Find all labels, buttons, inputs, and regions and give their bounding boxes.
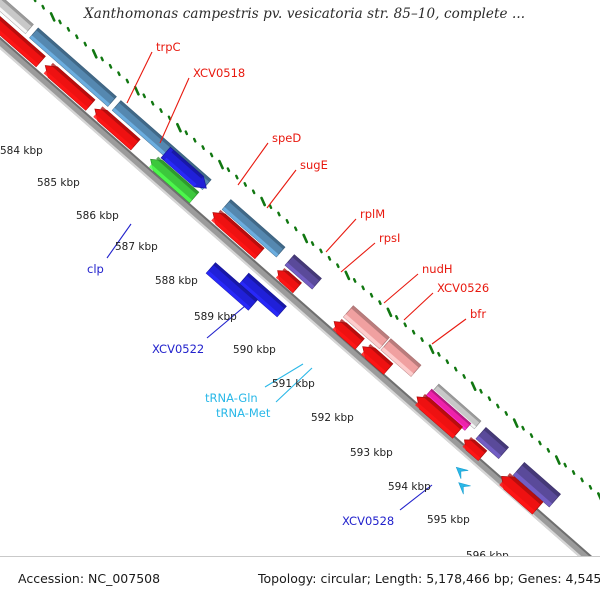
ruler-major-tick [472, 383, 475, 390]
ruler-major-tick [514, 420, 517, 427]
label-leader-line [267, 170, 296, 208]
ruler-minor-tick [320, 250, 321, 252]
ruler-minor-tick [590, 486, 591, 488]
gene-label[interactable]: XCV0528 [342, 514, 394, 528]
gene-label[interactable]: bfr [470, 307, 486, 321]
ruler-minor-tick [203, 146, 204, 148]
gene-label[interactable]: rplM [360, 207, 385, 221]
ruler-minor-tick [43, 6, 44, 8]
ruler-tick-label: 586 kbp [76, 210, 119, 222]
ruler-minor-tick [169, 117, 170, 119]
ruler-major-tick [346, 272, 349, 279]
ruler-minor-tick [59, 21, 60, 23]
trna-arrow-glyph[interactable] [459, 483, 471, 494]
gene-label[interactable]: XCV0522 [152, 342, 204, 356]
ruler-major-tick [135, 87, 138, 94]
ruler-tick-label: 584 kbp [0, 145, 43, 157]
ruler-minor-tick [228, 168, 229, 170]
ruler-minor-tick [211, 154, 212, 156]
accession-text: Accession: NC_007508 [18, 571, 160, 586]
ruler-minor-tick [438, 353, 439, 355]
ruler-minor-tick [396, 316, 397, 318]
label-leader-line [432, 319, 466, 344]
ruler-tick-label: 594 kbp [388, 481, 431, 493]
gene-label[interactable]: tRNA-Met [216, 406, 270, 420]
label-leader-line [404, 293, 433, 320]
trna-arrow-icon[interactable] [459, 483, 471, 494]
ruler-minor-tick [194, 139, 195, 141]
ruler-minor-tick [497, 405, 498, 407]
ruler-major-tick [388, 309, 391, 316]
status-bar: Accession: NC_007508 Topology: circular;… [0, 556, 600, 601]
ruler-minor-tick [489, 397, 490, 399]
ruler-minor-tick [422, 338, 423, 340]
ruler-minor-tick [34, 0, 35, 1]
ruler-minor-tick [118, 72, 119, 74]
ruler-minor-tick [548, 449, 549, 451]
label-leader-line [127, 52, 152, 103]
ruler-minor-tick [85, 43, 86, 45]
ruler-tick-label: 588 kbp [155, 275, 198, 287]
ruler-tick-label: 587 kbp [115, 241, 158, 253]
ruler-minor-tick [506, 412, 507, 414]
ruler-minor-tick [245, 183, 246, 185]
ruler-minor-tick [363, 287, 364, 289]
ruler-minor-tick [110, 65, 111, 67]
ruler-minor-tick [480, 390, 481, 392]
trna-arrow-glyph[interactable] [456, 467, 468, 478]
ruler-minor-tick [413, 331, 414, 333]
ruler-minor-tick [379, 301, 380, 303]
label-leader-line [326, 219, 356, 252]
ruler-tick-label: 595 kbp [427, 514, 470, 526]
ruler-tick-label: 591 kbp [272, 378, 315, 390]
ruler-tick-label: 593 kbp [350, 447, 393, 459]
ruler-major-tick [51, 13, 54, 20]
ruler-minor-tick [371, 294, 372, 296]
ruler-minor-tick [295, 228, 296, 230]
label-leader-line [160, 78, 189, 143]
ruler-minor-tick [127, 80, 128, 82]
ruler-minor-tick [565, 464, 566, 466]
ruler-minor-tick [152, 102, 153, 104]
gene-label[interactable]: nudH [422, 262, 453, 276]
ruler-minor-tick [531, 434, 532, 436]
gene-label[interactable]: XCV0518 [193, 66, 245, 80]
ruler-minor-tick [102, 58, 103, 60]
gene-label[interactable]: rpsI [379, 231, 400, 245]
ruler-minor-tick [287, 220, 288, 222]
ruler-minor-tick [329, 257, 330, 259]
gene-label[interactable]: XCV0526 [437, 281, 489, 295]
gene-label[interactable]: clp [87, 262, 104, 276]
sequence-axis [0, 5, 600, 600]
ruler-minor-tick [236, 176, 237, 178]
ruler-minor-tick [581, 479, 582, 481]
ruler-minor-tick [186, 132, 187, 134]
ruler-minor-tick [270, 205, 271, 207]
gene-label[interactable]: speD [272, 131, 301, 145]
label-leader-line [341, 243, 375, 272]
ruler-minor-tick [523, 427, 524, 429]
ruler-minor-tick [447, 361, 448, 363]
ruler-tick-label: 585 kbp [37, 177, 80, 189]
ruler-minor-tick [455, 368, 456, 370]
ruler-minor-tick [312, 242, 313, 244]
topology-text: Topology: circular; Length: 5,178,466 bp… [258, 571, 600, 586]
ruler-minor-tick [539, 442, 540, 444]
ruler-major-tick [93, 50, 96, 57]
ruler-major-tick [556, 457, 559, 464]
ruler-minor-tick [76, 36, 77, 38]
label-leader-line [384, 274, 418, 303]
genome-map-canvas[interactable] [0, 0, 600, 600]
sequence-viewer: Xanthomonas campestris pv. vesicatoria s… [0, 0, 600, 600]
ruler-major-tick [219, 161, 222, 168]
ruler-minor-tick [354, 279, 355, 281]
ruler-tick-label: 589 kbp [194, 311, 237, 323]
gene-label[interactable]: tRNA-Gln [205, 391, 258, 405]
ruler-minor-tick [144, 95, 145, 97]
ruler-minor-tick [278, 213, 279, 215]
trna-features[interactable] [456, 467, 470, 494]
ruler-minor-tick [253, 191, 254, 193]
ruler-major-tick [177, 124, 180, 131]
ruler-minor-tick [464, 375, 465, 377]
ruler-major-tick [262, 198, 265, 205]
gene-label[interactable]: trpC [156, 40, 181, 54]
ruler-tick-label: 592 kbp [311, 412, 354, 424]
ruler-minor-tick [337, 264, 338, 266]
ruler-major-tick [430, 346, 433, 353]
ruler-tick-label: 590 kbp [233, 344, 276, 356]
ruler-minor-tick [573, 471, 574, 473]
ruler-minor-tick [161, 109, 162, 111]
gene-label[interactable]: sugE [300, 158, 328, 172]
trna-arrow-icon[interactable] [456, 467, 468, 478]
ruler-major-tick [304, 235, 307, 242]
ruler-minor-tick [405, 324, 406, 326]
ruler-minor-tick [68, 28, 69, 30]
label-leader-line [238, 143, 268, 185]
